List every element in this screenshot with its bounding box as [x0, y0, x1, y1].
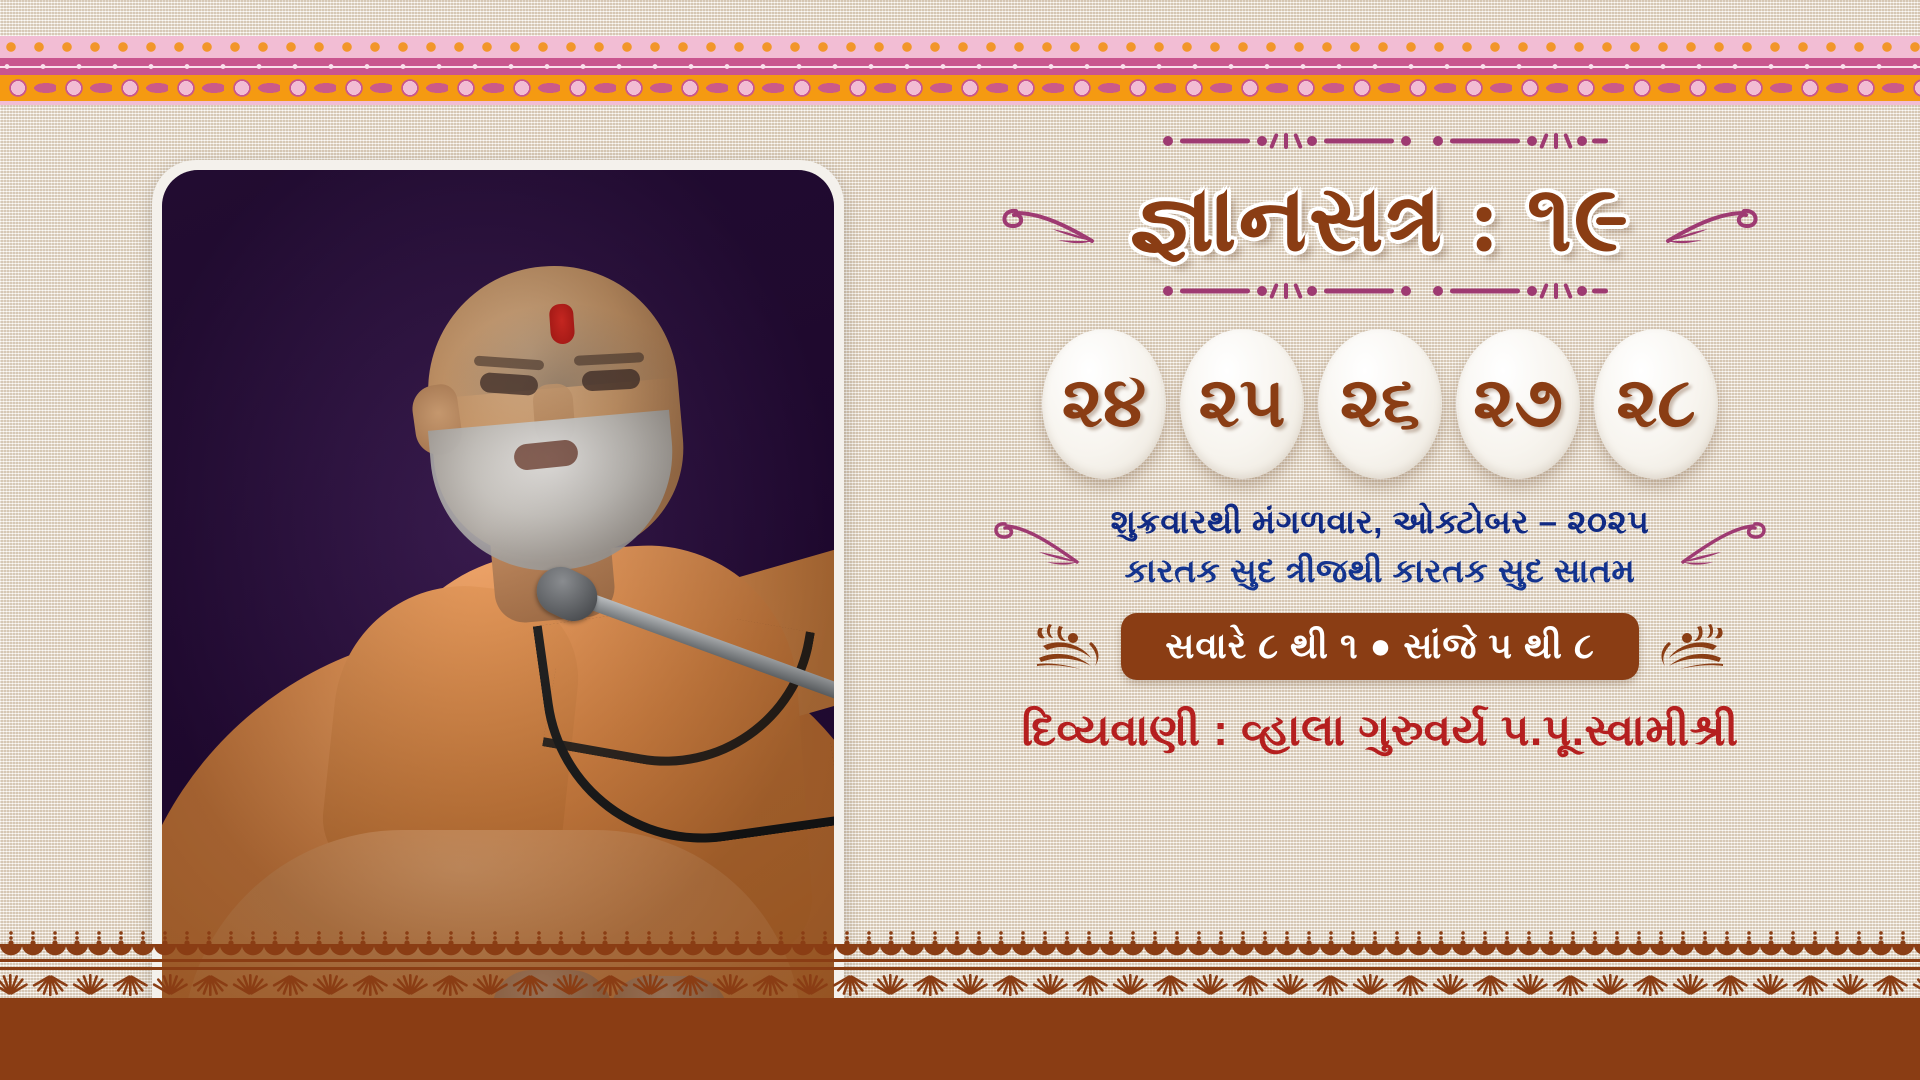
top-border-thin-line	[0, 101, 1920, 105]
date-circle: ૨૪	[1042, 329, 1166, 479]
tilak-mark	[549, 303, 576, 345]
date-line-secondary: કારતક સુદ ત્રીજથી કારતક સુદ સાતમ	[1111, 552, 1650, 591]
date-text-row: શુક્રવારથી મંગળવાર, ઓક્ટોબર – ૨૦૨૫ કારતક…	[880, 503, 1880, 591]
poster-canvas: જ્ઞાનસત્ર : ૧૯	[0, 0, 1920, 1080]
date-text-block: શુક્રવારથી મંગળવાર, ઓક્ટોબર – ૨૦૨૫ કારતક…	[1111, 503, 1650, 591]
page-title: જ્ઞાનસત્ર : ૧૯	[1130, 171, 1631, 268]
divider-top-icon	[1150, 130, 1610, 152]
top-border-orange-row	[0, 75, 1920, 101]
swirl-flourish-right-icon	[1648, 179, 1768, 259]
session-time-banner: સવારે ૮ થી ૧ ● સાંજે ૫ થી ૮	[1121, 613, 1639, 680]
bottom-border-rule-upper	[0, 959, 1920, 962]
date-circle-list: ૨૪ ૨૫ ૨૬ ૨૭ ૨૮	[880, 329, 1880, 479]
swirl-flourish-right-small-icon	[1665, 512, 1775, 582]
bottom-border-scallop-row	[0, 944, 1920, 959]
eye-left	[479, 372, 538, 396]
banner-ornament-right-icon	[1645, 616, 1731, 676]
date-circle: ૨૮	[1594, 329, 1718, 479]
date-value: ૨૮	[1616, 369, 1696, 439]
swirl-flourish-left-icon	[992, 179, 1112, 259]
eye-right	[582, 368, 641, 391]
date-line-primary: શુક્રવારથી મંગળવાર, ઓક્ટોબર – ૨૦૨૫	[1111, 503, 1650, 542]
bottom-border-rule-lower	[0, 967, 1920, 970]
top-border-pink-floral-row	[0, 36, 1920, 58]
date-circle: ૨૬	[1318, 329, 1442, 479]
date-circle: ૨૭	[1456, 329, 1580, 479]
date-value: ૨૭	[1473, 369, 1563, 439]
bottom-solid-bar	[0, 998, 1920, 1080]
date-value: ૨૫	[1198, 369, 1285, 439]
date-value: ૨૬	[1340, 369, 1420, 439]
content-column: જ્ઞાનસત્ર : ૧૯	[880, 130, 1880, 930]
speaker-line: દિવ્યવાણી : વ્હાલા ગુરુવર્ય પ.પૂ.સ્વામીશ…	[880, 706, 1880, 756]
time-banner-row: સવારે ૮ થી ૧ ● સાંજે ૫ થી ૮	[880, 613, 1880, 680]
title-row: જ્ઞાનસત્ર : ૧૯	[880, 171, 1880, 268]
top-border-magenta-row	[0, 58, 1920, 75]
bottom-border-fan-row	[0, 972, 1920, 998]
banner-ornament-left-icon	[1029, 616, 1115, 676]
divider-bottom-icon	[1150, 280, 1610, 302]
swirl-flourish-left-small-icon	[985, 512, 1095, 582]
date-circle: ૨૫	[1180, 329, 1304, 479]
date-value: ૨૪	[1062, 369, 1147, 439]
